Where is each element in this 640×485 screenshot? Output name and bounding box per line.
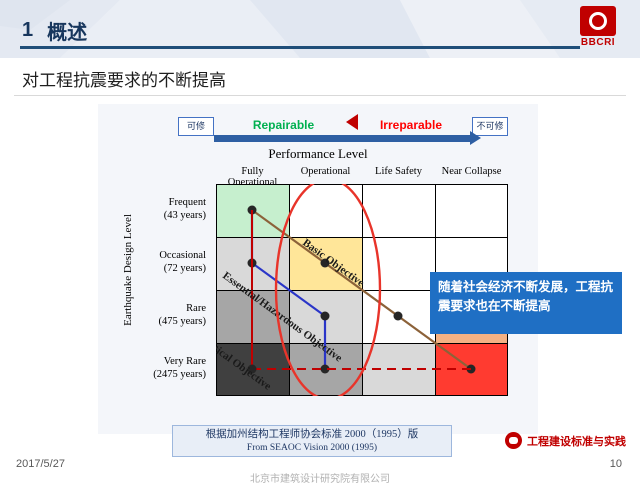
- page-title: 概述: [47, 16, 87, 45]
- source-box: 根据加州结构工程师协会标准 2000（1995）版 From SEAOC Vis…: [172, 425, 452, 457]
- callout-box: 随着社会经济不断发展，工程抗震要求也在不断提高: [430, 272, 622, 334]
- subtitle: 对工程抗震要求的不断提高: [22, 66, 226, 91]
- band-left-label: 可修: [178, 117, 214, 136]
- performance-level-title: Performance Level: [98, 146, 538, 162]
- section-number: 1: [22, 19, 33, 42]
- column-header-life-safety: Life Safety: [362, 166, 435, 177]
- row-label-very-rare: Very Rare (2475 years): [110, 355, 206, 381]
- footer-page-number: 10: [610, 458, 622, 470]
- row-label-frequent-name: Frequent: [169, 197, 206, 208]
- source-line-1: 根据加州结构工程师协会标准 2000（1995）版: [173, 426, 451, 442]
- row-label-rare-period: (475 years): [158, 316, 206, 327]
- row-label-very-rare-period: (2475 years): [153, 369, 206, 380]
- row-label-rare: Rare (475 years): [110, 302, 206, 328]
- wechat-icon: [505, 432, 522, 449]
- repairability-band: 可修 Repairable Irreparable 不可修: [178, 114, 508, 140]
- performance-matrix-figure: 可修 Repairable Irreparable 不可修 Performanc…: [98, 104, 538, 434]
- column-header-near-collapse: Near Collapse: [435, 166, 508, 177]
- row-label-occasional-name: Occasional: [159, 250, 206, 261]
- band-blue-bar: [214, 135, 472, 142]
- footer-company: 北京市建筑设计研究院有限公司: [0, 470, 640, 485]
- header-decoration: [0, 0, 640, 58]
- title-underline: [20, 46, 580, 49]
- band-right-arrow-icon: [470, 131, 481, 145]
- row-label-frequent: Frequent (43 years): [110, 196, 206, 222]
- shield-logo-icon: [580, 6, 616, 36]
- source-line-2: From SEAOC Vision 2000 (1995): [173, 442, 451, 454]
- band-left-arrow-icon: [346, 114, 358, 130]
- header-band: 1 概述 BBCRI: [0, 0, 640, 58]
- row-label-occasional: Occasional (72 years): [110, 249, 206, 275]
- row-label-rare-name: Rare: [186, 303, 206, 314]
- footer-date: 2017/5/27: [16, 458, 65, 470]
- brand-logo: BBCRI: [570, 6, 626, 54]
- wechat-label: 工程建设标准与实践: [527, 433, 626, 449]
- row-label-occasional-period: (72 years): [164, 263, 206, 274]
- subtitle-divider: [14, 95, 626, 96]
- logo-text: BBCRI: [570, 37, 626, 48]
- slide-title-row: 1 概述: [22, 16, 87, 45]
- row-label-frequent-period: (43 years): [164, 210, 206, 221]
- slide: 1 概述 BBCRI 对工程抗震要求的不断提高 可修 Repairable Ir…: [0, 0, 640, 480]
- band-repairable-label: Repairable: [216, 116, 351, 135]
- band-irreparable-label: Irreparable: [354, 116, 468, 135]
- column-header-operational: Operational: [289, 166, 362, 177]
- row-label-very-rare-name: Very Rare: [164, 356, 206, 367]
- wechat-badge: 工程建设标准与实践: [505, 432, 626, 449]
